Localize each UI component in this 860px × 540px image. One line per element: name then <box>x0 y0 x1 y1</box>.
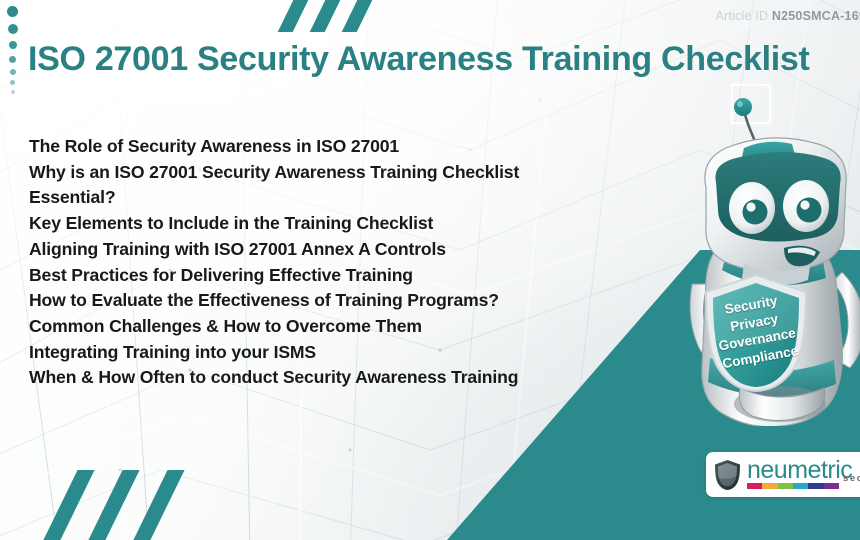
list-item: How to Evaluate the Effectiveness of Tra… <box>29 288 629 314</box>
neumetric-shield-logo-icon <box>714 459 741 490</box>
topic-list: The Role of Security Awareness in ISO 27… <box>29 134 629 391</box>
list-item: Key Elements to Include in the Training … <box>29 211 629 237</box>
list-item: Best Practices for Delivering Effective … <box>29 263 629 289</box>
dot-decoration-2 <box>8 24 18 34</box>
list-item: When & How Often to conduct Security Awa… <box>29 365 629 391</box>
article-id-value: N250SMCA-169 <box>772 9 860 23</box>
dot-decoration-7 <box>11 90 15 94</box>
poster-canvas: Article ID N250SMCA-169 ISO 27001 Securi… <box>0 0 860 540</box>
shield-badge-text: Security Privacy Governance Compliance <box>690 263 821 403</box>
dot-decoration-5 <box>10 69 16 75</box>
page-title: ISO 27001 Security Awareness Training Ch… <box>28 40 810 79</box>
logo-tagline: secure is <box>843 473 860 484</box>
dot-decoration-3 <box>9 41 17 49</box>
logo-text-group: neumetric secure is <box>747 458 860 492</box>
logo-color-bar <box>747 483 839 489</box>
dot-decoration-4 <box>9 56 16 63</box>
list-item: Aligning Training with ISO 27001 Annex A… <box>29 237 629 263</box>
list-item: Why is an ISO 27001 Security Awareness T… <box>29 160 609 211</box>
article-id-label: Article ID <box>716 9 769 23</box>
dot-decoration-6 <box>10 80 15 85</box>
brand-logo[interactable]: neumetric secure is <box>706 452 860 497</box>
list-item: Integrating Training into your ISMS <box>29 340 629 366</box>
list-item: Common Challenges & How to Overcome Them <box>29 314 629 340</box>
list-item: The Role of Security Awareness in ISO 27… <box>29 134 629 160</box>
dot-decoration-1 <box>7 6 18 17</box>
article-id: Article ID N250SMCA-169 <box>716 9 860 23</box>
shield-badge: Security Privacy Governance Compliance <box>700 272 812 394</box>
